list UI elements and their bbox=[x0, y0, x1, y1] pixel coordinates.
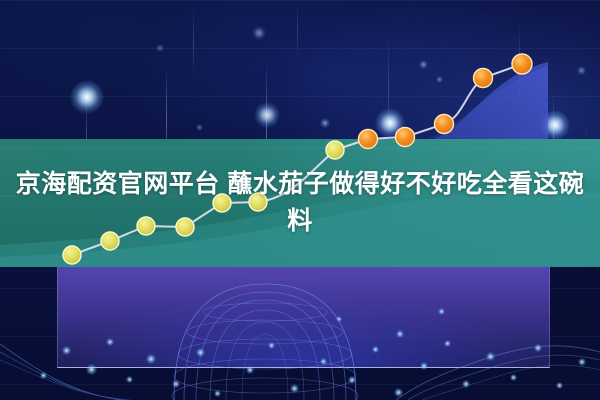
headline-container: 京海配资官网平台 蘸水茄子做得好不好吃全看这碗料 bbox=[0, 139, 600, 267]
headline-text: 京海配资官网平台 蘸水茄子做得好不好吃全看这碗料 bbox=[12, 166, 588, 240]
marker-group-orange bbox=[359, 54, 533, 149]
banner-image: 京海配资官网平台 蘸水茄子做得好不好吃全看这碗料 bbox=[0, 0, 600, 400]
